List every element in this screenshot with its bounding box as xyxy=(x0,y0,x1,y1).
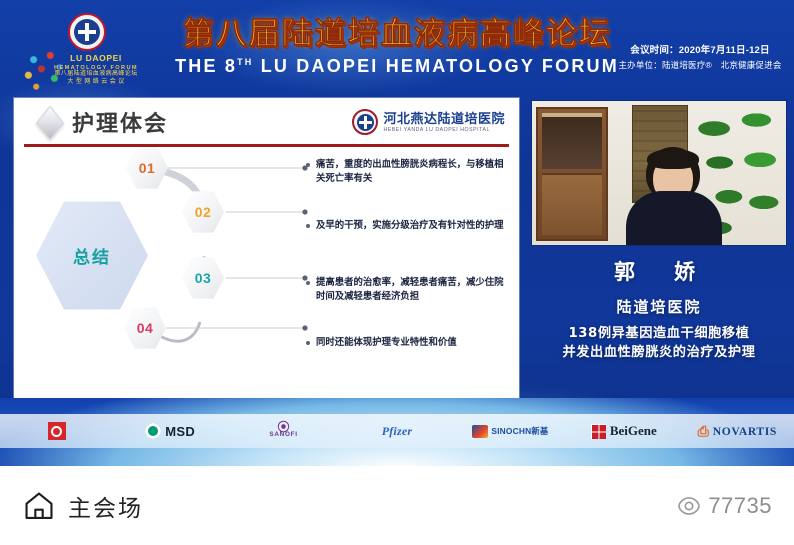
sponsor-logo-strip: MSD ⦿ SANOFI Pfizer SINOCHN新基 xyxy=(0,414,794,448)
slide-header: 护理体会 河北燕达陆道培医院 HEBEI YANDA LU DAOPEI HOS… xyxy=(14,98,519,146)
sponsor-sinochn: SINOCHN新基 xyxy=(454,425,567,438)
brand-chinese-line2: 大 型 网 络 云 会 议 xyxy=(42,78,150,86)
title-en-pre: THE 8 xyxy=(175,56,237,76)
eye-icon xyxy=(676,493,702,519)
slide-bullet-list: 痛苦，重度的出血性膀胱炎病程长，与移植相关死亡率有关 及早的干预，实施分级治疗及… xyxy=(302,146,512,398)
speaker-info: 郭 娇 陆道培医院 138例异基因造血干细胞移植 并发出血性膀胱炎的治疗及护理 xyxy=(531,252,787,392)
sponsor-label: NOVARTIS xyxy=(713,425,777,438)
hospital-cross-icon xyxy=(352,109,378,135)
forum-banner: LU DAOPEI HEMATOLOGY FORUM 第八届陆道培血液病高峰论坛… xyxy=(0,0,794,96)
node-number-02: 02 xyxy=(195,204,212,220)
speaker-portrait xyxy=(620,141,726,245)
home-icon[interactable] xyxy=(22,489,56,523)
bullet-item: 同时还能体现护理专业特性和价值 xyxy=(316,336,512,350)
meeting-meta: 会议时间：2020年7月11日-12日 主办单位：陆道培医疗® 北京健康促进会 xyxy=(616,44,784,72)
red-square-logo-icon xyxy=(48,422,66,440)
broadcast-stage: LU DAOPEI HEMATOLOGY FORUM 第八届陆道培血液病高峰论坛… xyxy=(0,0,794,466)
hospital-name-en: HEBEI YANDA LU DAOPEI HOSPITAL xyxy=(383,127,505,133)
sponsor-sanofi: ⦿ SANOFI xyxy=(227,423,340,439)
presentation-slide: 护理体会 河北燕达陆道培医院 HEBEI YANDA LU DAOPEI HOS… xyxy=(14,98,519,398)
venue-label: 主会场 xyxy=(68,489,143,523)
bullet-item: 提高患者的治愈率，减轻患者痛苦，减少住院时间及减轻患者经济负担 xyxy=(316,276,512,304)
novartis-logo-icon: ⎙ NOVARTIS xyxy=(698,425,777,438)
speaker-topic: 138例异基因造血干细胞移植 并发出血性膀胱炎的治疗及护理 xyxy=(531,324,787,362)
bottom-bar: 主会场 77735 xyxy=(0,466,794,545)
hospital-name: 河北燕达陆道培医院 HEBEI YANDA LU DAOPEI HOSPITAL xyxy=(383,112,505,133)
meeting-organizer: 主办单位：陆道培医疗® 北京健康促进会 xyxy=(616,58,784,72)
hospital-logo: 河北燕达陆道培医院 HEBEI YANDA LU DAOPEI HOSPITAL xyxy=(352,106,505,138)
viewer-count: 77735 xyxy=(676,493,772,519)
viewer-count-value: 77735 xyxy=(708,493,772,519)
node-number-03: 03 xyxy=(195,270,212,286)
live-stream-page: LU DAOPEI HEMATOLOGY FORUM 第八届陆道培血液病高峰论坛… xyxy=(0,0,794,545)
sponsor-label: BeiGene xyxy=(610,423,657,439)
msd-logo-icon xyxy=(145,423,161,439)
venue-selector[interactable]: 主会场 xyxy=(22,489,143,523)
node-number-01: 01 xyxy=(139,160,156,176)
sponsor-label: SINOCHN新基 xyxy=(491,425,548,437)
sponsor-label: MSD xyxy=(165,424,195,439)
speaker-topic-line2: 并发出血性膀胱炎的治疗及护理 xyxy=(531,343,787,362)
hospital-name-cn: 河北燕达陆道培医院 xyxy=(383,112,505,127)
sponsor-msd: MSD xyxy=(113,423,226,439)
sponsor-band: MSD ⦿ SANOFI Pfizer SINOCHN新基 xyxy=(0,398,794,466)
sponsor-label: Pfizer xyxy=(382,424,413,439)
slide-title: 护理体会 xyxy=(72,106,168,138)
speaker-video-feed[interactable] xyxy=(531,100,787,246)
node-number-04: 04 xyxy=(137,320,154,336)
sponsor-beigene: BeiGene xyxy=(567,423,680,439)
speaker-topic-line1: 138例异基因造血干细胞移植 xyxy=(531,324,787,343)
meeting-time: 会议时间：2020年7月11日-12日 xyxy=(616,44,784,58)
sponsor-red-square xyxy=(0,422,113,440)
beigene-logo-icon: BeiGene xyxy=(591,423,657,439)
bullet-item: 痛苦，重度的出血性膀胱炎病程长，与移植相关死亡率有关 xyxy=(316,158,512,186)
title-en-post: LU DAOPEI HEMATOLOGY FORUM xyxy=(254,56,619,76)
speaker-name: 郭 娇 xyxy=(531,256,787,286)
summary-label: 总结 xyxy=(73,243,111,268)
bookshelf xyxy=(536,107,608,241)
sponsor-pfizer: Pfizer xyxy=(340,424,453,439)
diamond-icon xyxy=(36,106,64,140)
sinochn-logo-icon: SINOCHN新基 xyxy=(472,425,548,438)
sponsor-novartis: ⎙ NOVARTIS xyxy=(681,425,794,438)
speaker-organization: 陆道培医院 xyxy=(531,296,787,317)
sponsor-label: SANOFI xyxy=(269,431,297,439)
sanofi-logo-icon: ⦿ SANOFI xyxy=(269,423,297,439)
title-en-ordinal: TH xyxy=(237,57,253,67)
bullet-item: 及早的干预，实施分级治疗及有针对性的护理 xyxy=(316,219,512,233)
